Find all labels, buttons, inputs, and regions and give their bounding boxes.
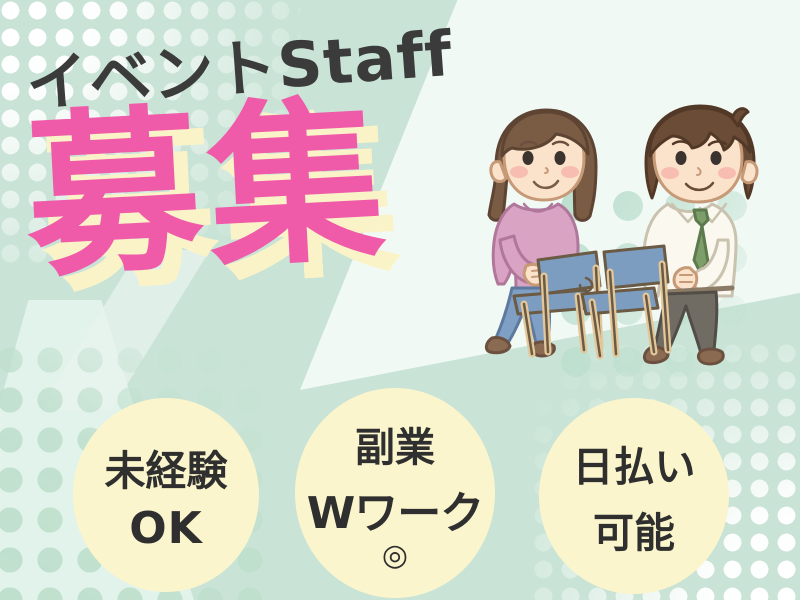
job-ad-banner: イベントStaff 募集 bbox=[0, 0, 800, 600]
big-word-wrapper: 募集 bbox=[21, 93, 394, 288]
bubble-no-experience-ok: 未経験 OK bbox=[73, 398, 259, 592]
bubble-3-line-1: 日払い bbox=[573, 433, 696, 493]
double-circle-icon: ◎ bbox=[382, 541, 408, 571]
bubble-2-line-2: Wワーク bbox=[307, 477, 484, 541]
illustration-two-staff-with-chairs bbox=[478, 100, 800, 368]
feature-bubbles: 未経験 OK 副業 Wワーク ◎ 日払い 可能 bbox=[0, 388, 800, 600]
bubble-2-line-1: 副業 bbox=[355, 415, 435, 473]
bubble-1-line-1: 未経験 bbox=[105, 437, 228, 497]
big-word-boshuu: 募集 bbox=[21, 93, 394, 288]
bubble-1-line-2: OK bbox=[129, 503, 203, 554]
bubble-side-job-double-work: 副業 Wワーク ◎ bbox=[295, 388, 495, 598]
bubble-3-line-2: 可能 bbox=[593, 499, 675, 559]
bubble-daily-payment: 日払い 可能 bbox=[539, 398, 729, 594]
